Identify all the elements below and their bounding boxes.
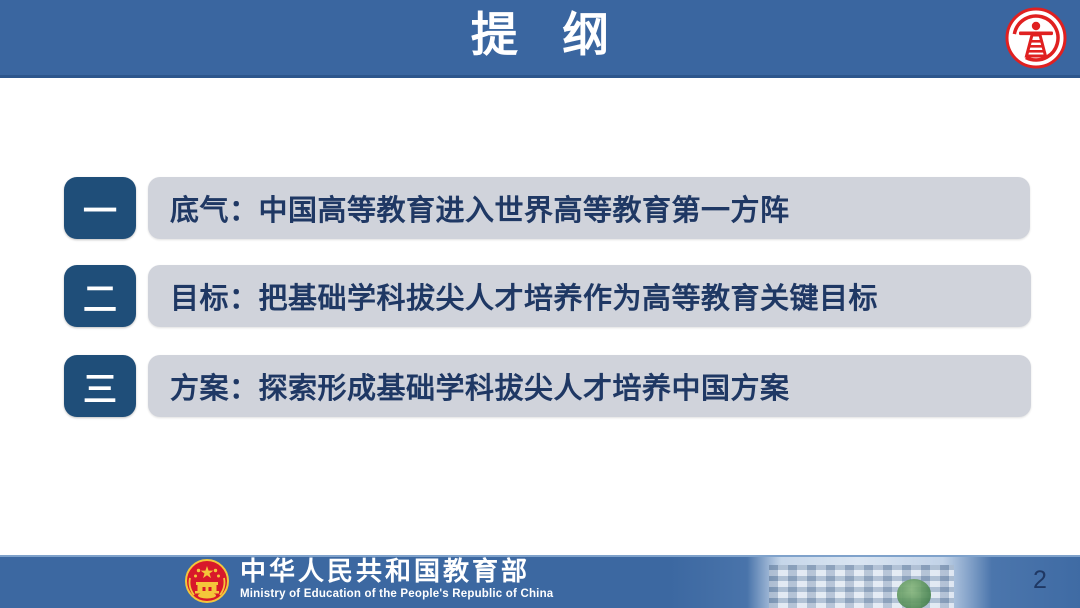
outline-item-1[interactable]: 一 底气：中国高等教育进入世界高等教育第一方阵 [64,177,1030,239]
outline-label-3: 方案：探索形成基础学科拔尖人才培养中国方案 [170,365,790,407]
outline-item-2[interactable]: 二 目标：把基础学科拔尖人才培养作为高等教育关键目标 [64,265,1031,327]
outline-label-2: 目标：把基础学科拔尖人才培养作为高等教育关键目标 [170,275,878,317]
page-title: 提 纲 [0,0,1080,75]
ministry-name-cn: 中华人民共和国教育部 [240,558,570,586]
photo-tree [897,579,931,608]
outline-badge-1: 一 [64,177,136,239]
ministry-branding: 中华人民共和国教育部 Ministry of Education of the … [240,558,570,602]
outline-pill-2[interactable]: 目标：把基础学科拔尖人才培养作为高等教育关键目标 [148,265,1031,327]
outline-item-3[interactable]: 三 方案：探索形成基础学科拔尖人才培养中国方案 [64,355,1031,417]
slide: 提 纲 一 底气：中国 [0,0,1080,608]
campus-building-photo-icon [747,557,992,608]
outline-label-1: 底气：中国高等教育进入世界高等教育第一方阵 [170,187,790,229]
china-national-emblem-icon [184,558,230,604]
outline-pill-3[interactable]: 方案：探索形成基础学科拔尖人才培养中国方案 [148,355,1031,417]
outline-badge-3: 三 [64,355,136,417]
outline-pill-1[interactable]: 底气：中国高等教育进入世界高等教育第一方阵 [148,177,1030,239]
outline-badge-2: 二 [64,265,136,327]
red-tower-circle-logo-icon [1004,6,1068,70]
slide-header: 提 纲 [0,0,1080,78]
ministry-name-en: Ministry of Education of the People's Re… [240,586,570,602]
page-number: 2 [1020,566,1060,595]
outline-list: 一 底气：中国高等教育进入世界高等教育第一方阵 二 目标：把基础学科拔尖人才培养… [0,78,1080,555]
